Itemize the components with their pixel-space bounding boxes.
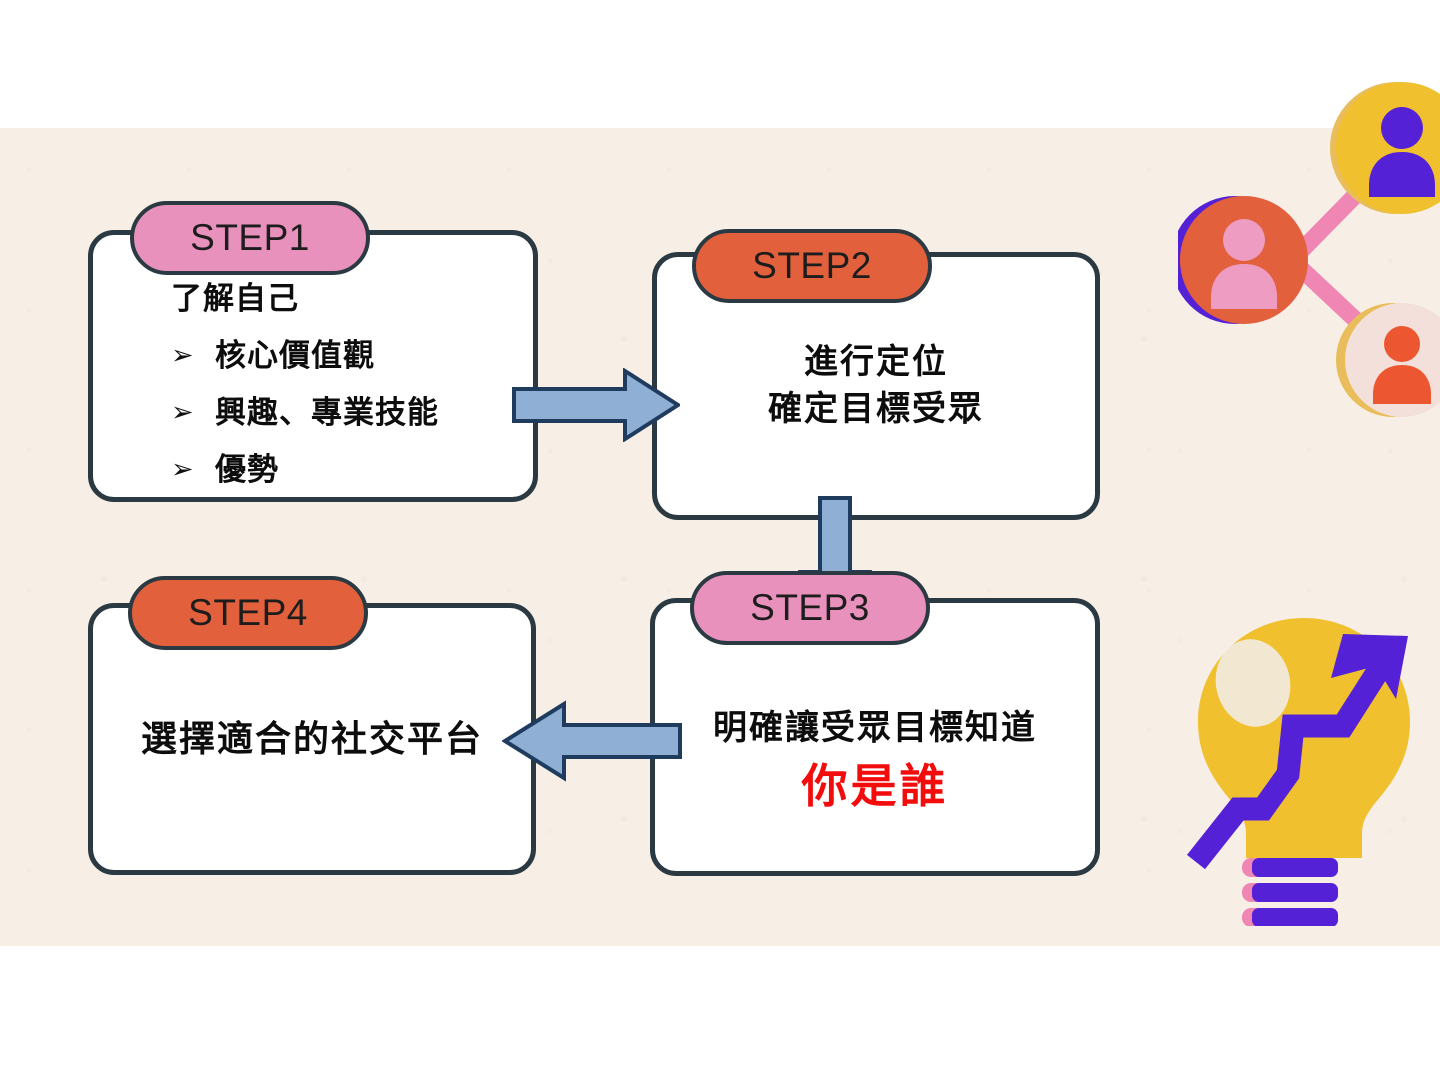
list-item: ➢ 興趣、專業技能	[171, 397, 533, 428]
bulb-base-icon	[1242, 858, 1338, 926]
step-1-label-pill[interactable]: STEP1	[130, 201, 370, 275]
step-1-bullet-text: 核心價值觀	[215, 340, 375, 371]
list-item: ➢ 核心價值觀	[171, 340, 533, 371]
lightbulb-growth-illustration	[1168, 606, 1440, 926]
step-2-line-1: 進行定位	[804, 339, 948, 386]
step-3-label-pill[interactable]: STEP3	[690, 571, 930, 645]
step-4-label-pill[interactable]: STEP4	[128, 576, 368, 650]
arrow-bullet-icon: ➢	[171, 342, 215, 369]
people-network-illustration	[1178, 78, 1440, 418]
step-1-bullet-list: ➢ 核心價值觀 ➢ 興趣、專業技能 ➢ 優勢	[171, 340, 533, 511]
slide-canvas: 了解自己 ➢ 核心價值觀 ➢ 興趣、專業技能 ➢ 優勢 STEP1 進行定位	[0, 0, 1440, 1080]
step-3-highlight-text: 你是誰	[802, 758, 949, 816]
arrow-bullet-icon: ➢	[171, 456, 215, 483]
step-2-line-2: 確定目標受眾	[768, 386, 984, 433]
step-1-bullet-text: 優勢	[215, 454, 279, 485]
step-1-bullet-text: 興趣、專業技能	[215, 397, 439, 428]
arrow-bullet-icon: ➢	[171, 399, 215, 426]
arrow-step1-to-step2-icon	[512, 368, 680, 442]
step-3-line-1: 明確讓受眾目標知道	[713, 705, 1037, 752]
arrow-step3-to-step4-icon	[502, 700, 682, 782]
network-node-orange	[1178, 196, 1308, 324]
step-1-heading: 了解自己	[171, 283, 533, 314]
step-2-label-pill[interactable]: STEP2	[692, 229, 932, 303]
step-4-line-1: 選擇適合的社交平台	[141, 714, 483, 764]
list-item: ➢ 優勢	[171, 454, 533, 485]
